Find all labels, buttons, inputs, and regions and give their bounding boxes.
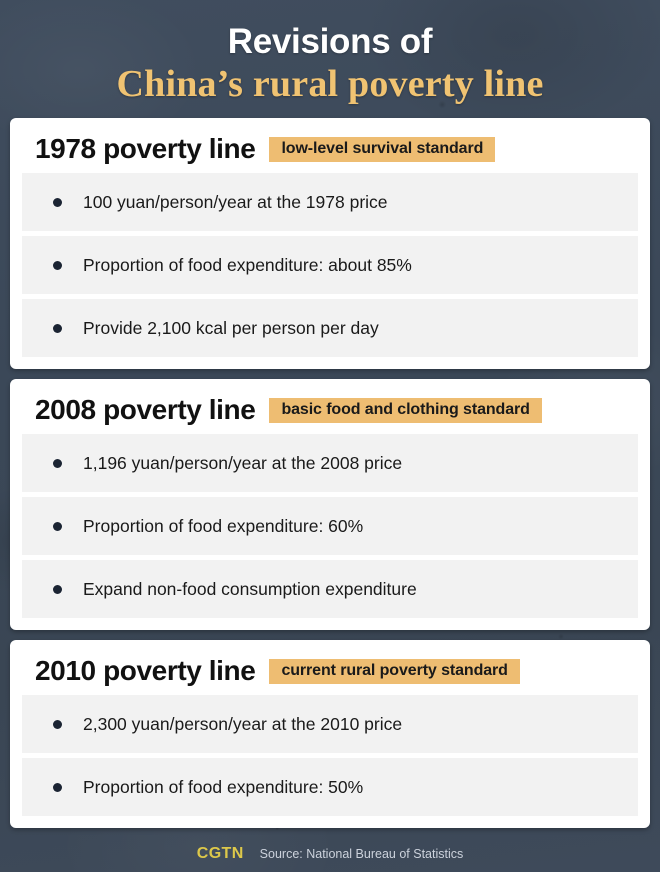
list-item: 100 yuan/person/year at the 1978 price xyxy=(22,173,638,231)
poster-header: Revisions of China’s rural poverty line xyxy=(0,0,660,106)
list-item-label: 2,300 yuan/person/year at the 2010 price xyxy=(83,712,402,736)
infographic-poster: Revisions of China’s rural poverty line … xyxy=(0,0,660,872)
list-item: Proportion of food expenditure: about 85… xyxy=(22,236,638,294)
poverty-line-card-1978: 1978 poverty line low-level survival sta… xyxy=(10,118,650,369)
list-item-label: Expand non-food consumption expenditure xyxy=(83,577,417,601)
cgtn-logo: CGTN xyxy=(197,845,244,863)
page-title-line1: Revisions of xyxy=(0,22,660,62)
poverty-line-card-2008: 2008 poverty line basic food and clothin… xyxy=(10,379,650,630)
status-badge: basic food and clothing standard xyxy=(269,398,541,423)
bullet-dot-icon xyxy=(53,522,62,531)
list-item-label: Proportion of food expenditure: 50% xyxy=(83,775,363,799)
status-badge: current rural poverty standard xyxy=(269,659,519,684)
list-item: Proportion of food expenditure: 50% xyxy=(22,758,638,816)
page-title-line2: China’s rural poverty line xyxy=(0,62,660,106)
poverty-line-card-2010: 2010 poverty line current rural poverty … xyxy=(10,640,650,828)
poverty-line-card-list: 1978 poverty line low-level survival sta… xyxy=(10,118,650,828)
bullet-dot-icon xyxy=(53,198,62,207)
bullet-dot-icon xyxy=(53,324,62,333)
bullet-dot-icon xyxy=(53,720,62,729)
list-item: 1,196 yuan/person/year at the 2008 price xyxy=(22,434,638,492)
list-item-label: Provide 2,100 kcal per person per day xyxy=(83,316,379,340)
list-item: Proportion of food expenditure: 60% xyxy=(22,497,638,555)
list-item: Provide 2,100 kcal per person per day xyxy=(22,299,638,357)
bullet-dot-icon xyxy=(53,459,62,468)
card-header: 2008 poverty line basic food and clothin… xyxy=(22,389,638,434)
card-title: 2010 poverty line xyxy=(35,655,255,687)
card-header: 1978 poverty line low-level survival sta… xyxy=(22,128,638,173)
list-item-label: 100 yuan/person/year at the 1978 price xyxy=(83,190,388,214)
source-attribution: Source: National Bureau of Statistics xyxy=(260,847,464,861)
list-item-label: 1,196 yuan/person/year at the 2008 price xyxy=(83,451,402,475)
bullet-dot-icon xyxy=(53,261,62,270)
list-item: 2,300 yuan/person/year at the 2010 price xyxy=(22,695,638,753)
bullet-dot-icon xyxy=(53,783,62,792)
card-title: 2008 poverty line xyxy=(35,394,255,426)
list-item-label: Proportion of food expenditure: about 85… xyxy=(83,253,412,277)
list-item: Expand non-food consumption expenditure xyxy=(22,560,638,618)
list-item-label: Proportion of food expenditure: 60% xyxy=(83,514,363,538)
bullet-dot-icon xyxy=(53,585,62,594)
card-title: 1978 poverty line xyxy=(35,133,255,165)
poster-footer: CGTN Source: National Bureau of Statisti… xyxy=(0,845,660,863)
card-header: 2010 poverty line current rural poverty … xyxy=(22,650,638,695)
status-badge: low-level survival standard xyxy=(269,137,495,162)
